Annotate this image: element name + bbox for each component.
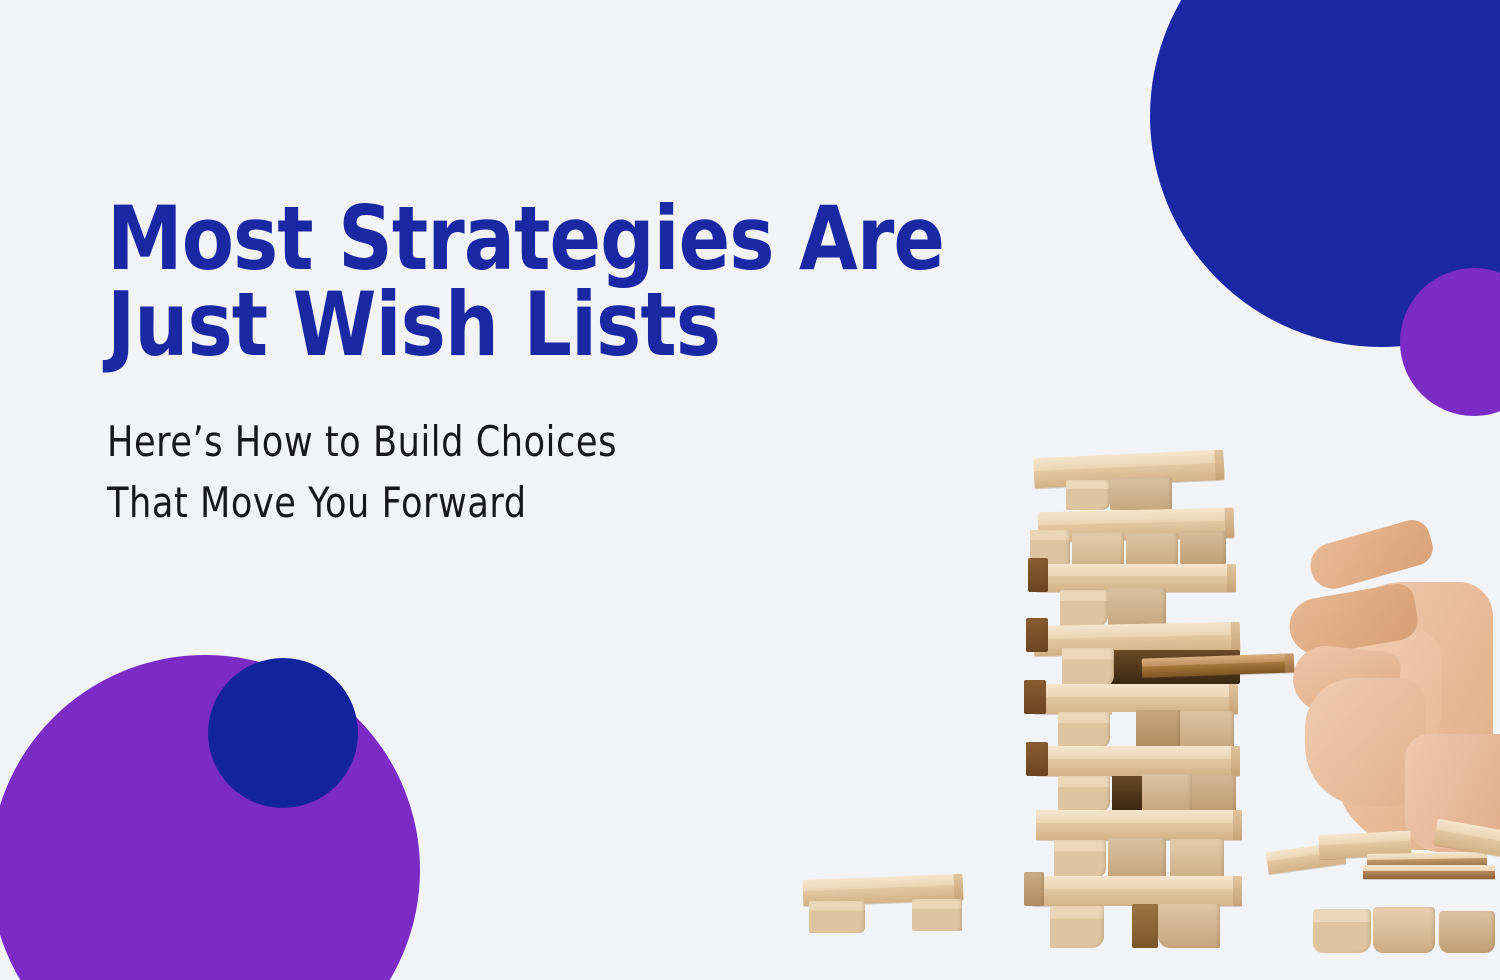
jenga-photo [780,420,1500,980]
wood-block [1373,907,1435,953]
wood-block [1050,906,1104,948]
wood-block [1036,810,1242,840]
wood-block [1026,618,1048,652]
wood-block [809,901,865,933]
tower-gap [1112,712,1136,748]
tower-cavity [1112,776,1142,810]
wood-block [1136,710,1180,748]
wood-face-top [1036,746,1240,759]
wood-face-top [1032,876,1242,889]
wood-block [1060,590,1108,626]
wood-face-end [1231,746,1240,776]
wood-block [912,899,962,931]
wood-face-front [1363,871,1495,879]
scattered-block-pile [1267,825,1500,965]
wood-face-end [1229,684,1238,714]
wood-block [1036,746,1240,776]
wood-face-front [1036,759,1240,776]
wood-block [1024,680,1046,714]
wood-face-top [1034,684,1238,697]
wood-face-end [1225,508,1235,538]
wood-block [1028,558,1048,592]
wood-block [1180,711,1234,748]
wood-block [1058,712,1110,748]
wood-block [1313,909,1371,953]
wood-block [1058,776,1110,812]
wood-block [1126,533,1178,565]
wood-block [1072,533,1124,565]
wood-block [1132,904,1158,948]
wood-face-end [1231,622,1241,652]
wood-block [1108,838,1166,878]
wood-block [1110,478,1172,510]
wood-block [1170,839,1224,878]
wood-block [1032,876,1242,906]
wood-face-end [1227,564,1236,592]
wood-block [1142,774,1192,812]
wood-block [1363,865,1495,879]
wood-face-end [1214,450,1224,480]
wood-face-top [1036,564,1236,576]
wood-face-end [1233,810,1242,840]
decorative-circle-blue-bottom-left [208,658,358,808]
wood-block [1054,840,1106,878]
wood-block [1439,911,1495,953]
page-title: Most Strategies Are Just Wish Lists [107,196,1067,368]
wood-block [1192,775,1236,812]
wood-block [1066,480,1110,510]
left-low-blocks-group [795,865,985,975]
jenga-tower [1020,430,1280,975]
wood-block [1062,648,1114,686]
wood-block [1026,742,1048,776]
pulled-block [1142,653,1295,677]
decorative-circle-purple-bottom-left [0,655,420,980]
hand [1275,520,1500,850]
wood-block [1158,904,1220,948]
wood-block [1024,872,1044,906]
wood-face-top [1036,810,1242,823]
wood-block [1180,531,1226,564]
tower-gap [1104,906,1132,948]
poster-canvas: Most Strategies Are Just Wish Lists Here… [0,0,1500,980]
wood-face-end [953,874,963,900]
wood-block [1108,588,1166,626]
wood-face-end [1233,876,1242,906]
